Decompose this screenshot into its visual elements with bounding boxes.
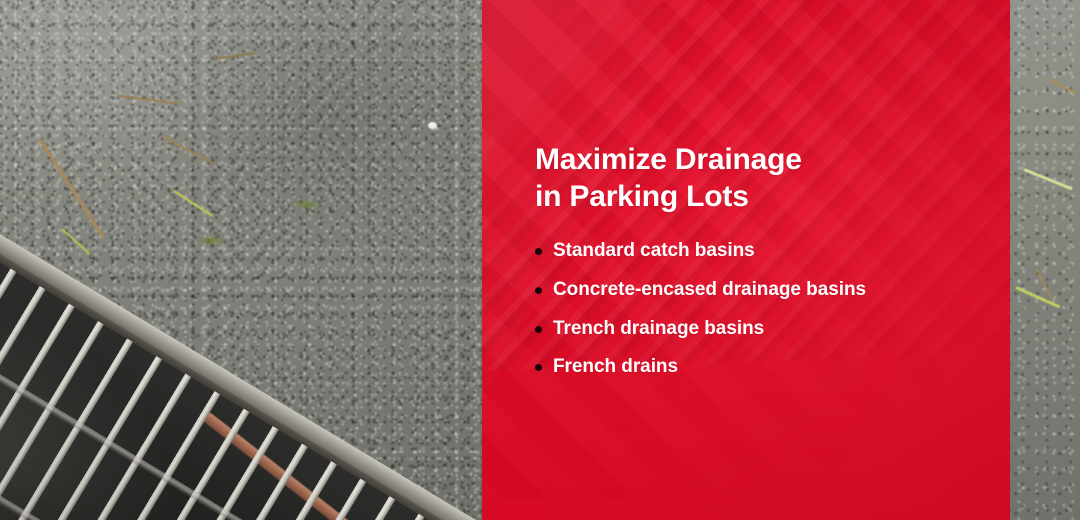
asphalt-texture-right bbox=[1010, 0, 1080, 520]
drainage-options-list: Standard catch basins Concrete-encased d… bbox=[535, 239, 1005, 380]
list-item: Trench drainage basins bbox=[535, 317, 1005, 342]
drainage-promo-banner: Maximize Drainage in Parking Lots Standa… bbox=[0, 0, 1080, 520]
bullet-dot-icon bbox=[535, 248, 542, 255]
red-content-panel: Maximize Drainage in Parking Lots Standa… bbox=[482, 0, 1010, 520]
list-item-label: Standard catch basins bbox=[553, 239, 755, 264]
headline-line-2: in Parking Lots bbox=[535, 179, 1005, 216]
moss-patch bbox=[196, 236, 226, 245]
trench-drain-photo bbox=[0, 0, 482, 520]
pavement-speck bbox=[428, 122, 437, 129]
list-item-label: French drains bbox=[553, 355, 678, 380]
bullet-dot-icon bbox=[535, 326, 542, 333]
list-item-label: Concrete-encased drainage basins bbox=[553, 278, 866, 303]
panel-content: Maximize Drainage in Parking Lots Standa… bbox=[535, 142, 1005, 380]
list-item: Concrete-encased drainage basins bbox=[535, 278, 1005, 303]
bullet-dot-icon bbox=[535, 364, 542, 371]
page-title: Maximize Drainage in Parking Lots bbox=[535, 142, 1005, 215]
moss-patch bbox=[292, 200, 322, 209]
asphalt-photo-sliver bbox=[1010, 0, 1080, 520]
list-item: French drains bbox=[535, 355, 1005, 380]
list-item: Standard catch basins bbox=[535, 239, 1005, 264]
bullet-dot-icon bbox=[535, 287, 542, 294]
list-item-label: Trench drainage basins bbox=[553, 317, 764, 342]
headline-line-1: Maximize Drainage bbox=[535, 142, 1005, 179]
